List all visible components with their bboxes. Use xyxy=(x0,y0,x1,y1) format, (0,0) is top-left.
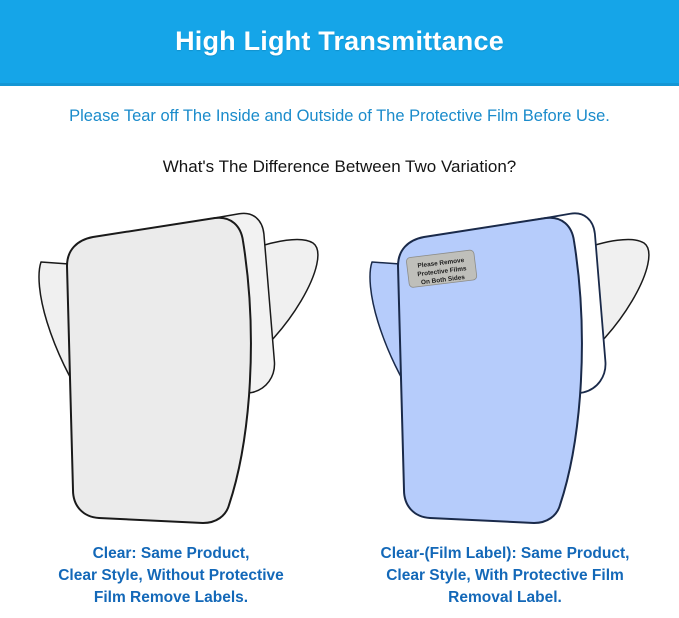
comparison-question: What's The Difference Between Two Variat… xyxy=(0,157,679,177)
caption-film-label-line-2: Clear Style, With Protective Film xyxy=(350,565,660,587)
front-panel xyxy=(67,218,251,523)
clear-panel-illustration xyxy=(17,196,337,526)
infographic-page: High Light Transmittance Please Tear off… xyxy=(0,0,679,618)
product-image-clear xyxy=(17,196,337,526)
caption-clear: Clear: Same Product, Clear Style, Withou… xyxy=(16,543,326,609)
caption-clear-line-1: Clear: Same Product, xyxy=(16,543,326,565)
product-image-film-label: Please Remove Protective Films On Both S… xyxy=(348,196,668,526)
caption-film-label: Clear-(Film Label): Same Product, Clear … xyxy=(350,543,660,609)
caption-film-label-line-1: Clear-(Film Label): Same Product, xyxy=(350,543,660,565)
instruction-subtitle: Please Tear off The Inside and Outside o… xyxy=(0,107,679,126)
header-banner: High Light Transmittance xyxy=(0,0,679,86)
caption-clear-line-3: Film Remove Labels. xyxy=(16,587,326,609)
product-illustrations: Please Remove Protective Films On Both S… xyxy=(0,196,679,526)
page-title: High Light Transmittance xyxy=(0,0,679,83)
caption-film-label-line-3: Removal Label. xyxy=(350,587,660,609)
caption-clear-line-2: Clear Style, Without Protective xyxy=(16,565,326,587)
film-label-panel-illustration: Please Remove Protective Films On Both S… xyxy=(348,196,668,526)
